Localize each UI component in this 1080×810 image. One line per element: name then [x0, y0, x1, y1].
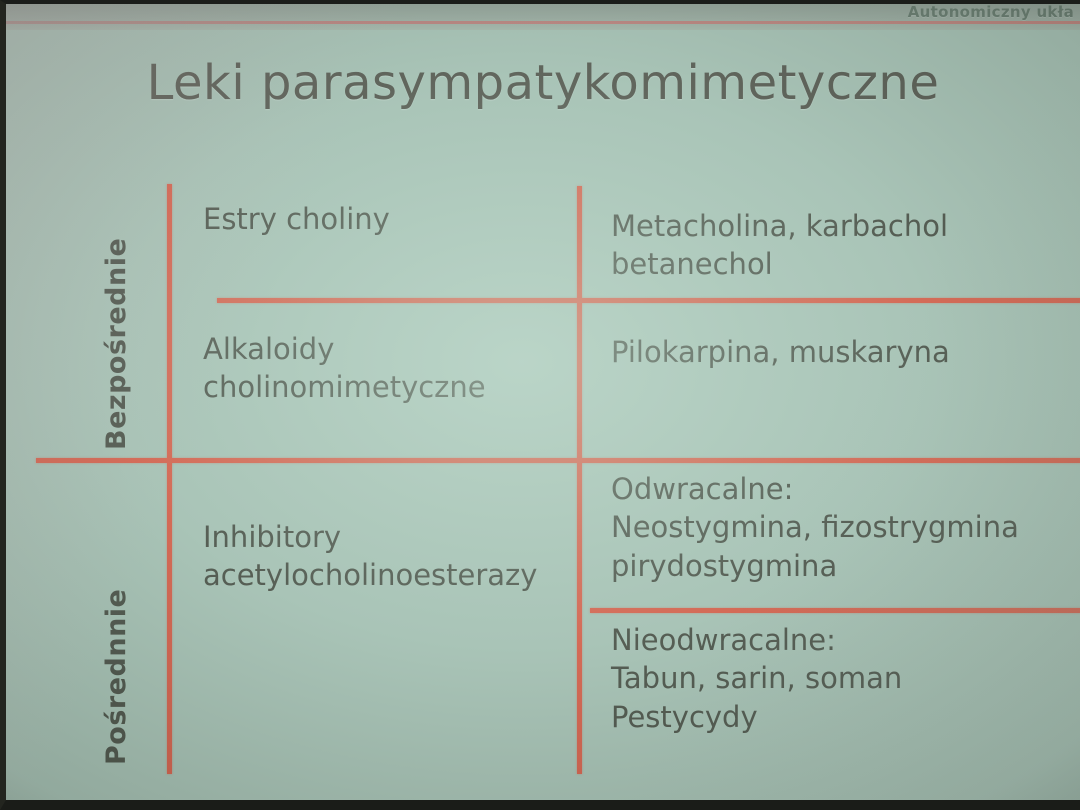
table-rule-row1-bottom — [217, 298, 1080, 303]
row-esters-category: Estry choliny — [203, 200, 568, 238]
table-rule-reversible-divider — [590, 608, 1080, 613]
row-inhibitors-irreversible: Nieodwracalne: Tabun, sarin, soman Pesty… — [611, 621, 1080, 736]
group-label-posrednie: Pośrednnie — [101, 495, 132, 765]
row-alkaloids-drugs: Pilokarpina, muskaryna — [611, 333, 1080, 371]
slide-photo: Autonomiczny ukła Leki parasympatykomime… — [0, 0, 1080, 810]
slide-body: Leki parasympatykomimetyczne Bezpośredni… — [6, 30, 1080, 810]
row-inhibitors-category: Inhibitory acetylocholinoesterazy — [203, 518, 568, 595]
header-divider-line — [6, 21, 1080, 24]
row-inhibitors-reversible: Odwracalne: Neostygmina, fizostrygmina p… — [611, 470, 1080, 585]
table-rule-vertical-left — [167, 184, 172, 774]
running-header-text: Autonomiczny ukła — [908, 3, 1074, 21]
table-rule-vertical-middle — [577, 186, 582, 774]
table-rule-group-divider — [36, 458, 1080, 463]
slide-title: Leki parasympatykomimetyczne — [6, 55, 1080, 111]
group-label-bezposrednie: Bezpośrednie — [101, 180, 132, 450]
row-esters-drugs: Metacholina, karbachol betanechol — [611, 207, 1080, 284]
row-alkaloids-category: Alkaloidy cholinomimetyczne — [203, 330, 568, 407]
